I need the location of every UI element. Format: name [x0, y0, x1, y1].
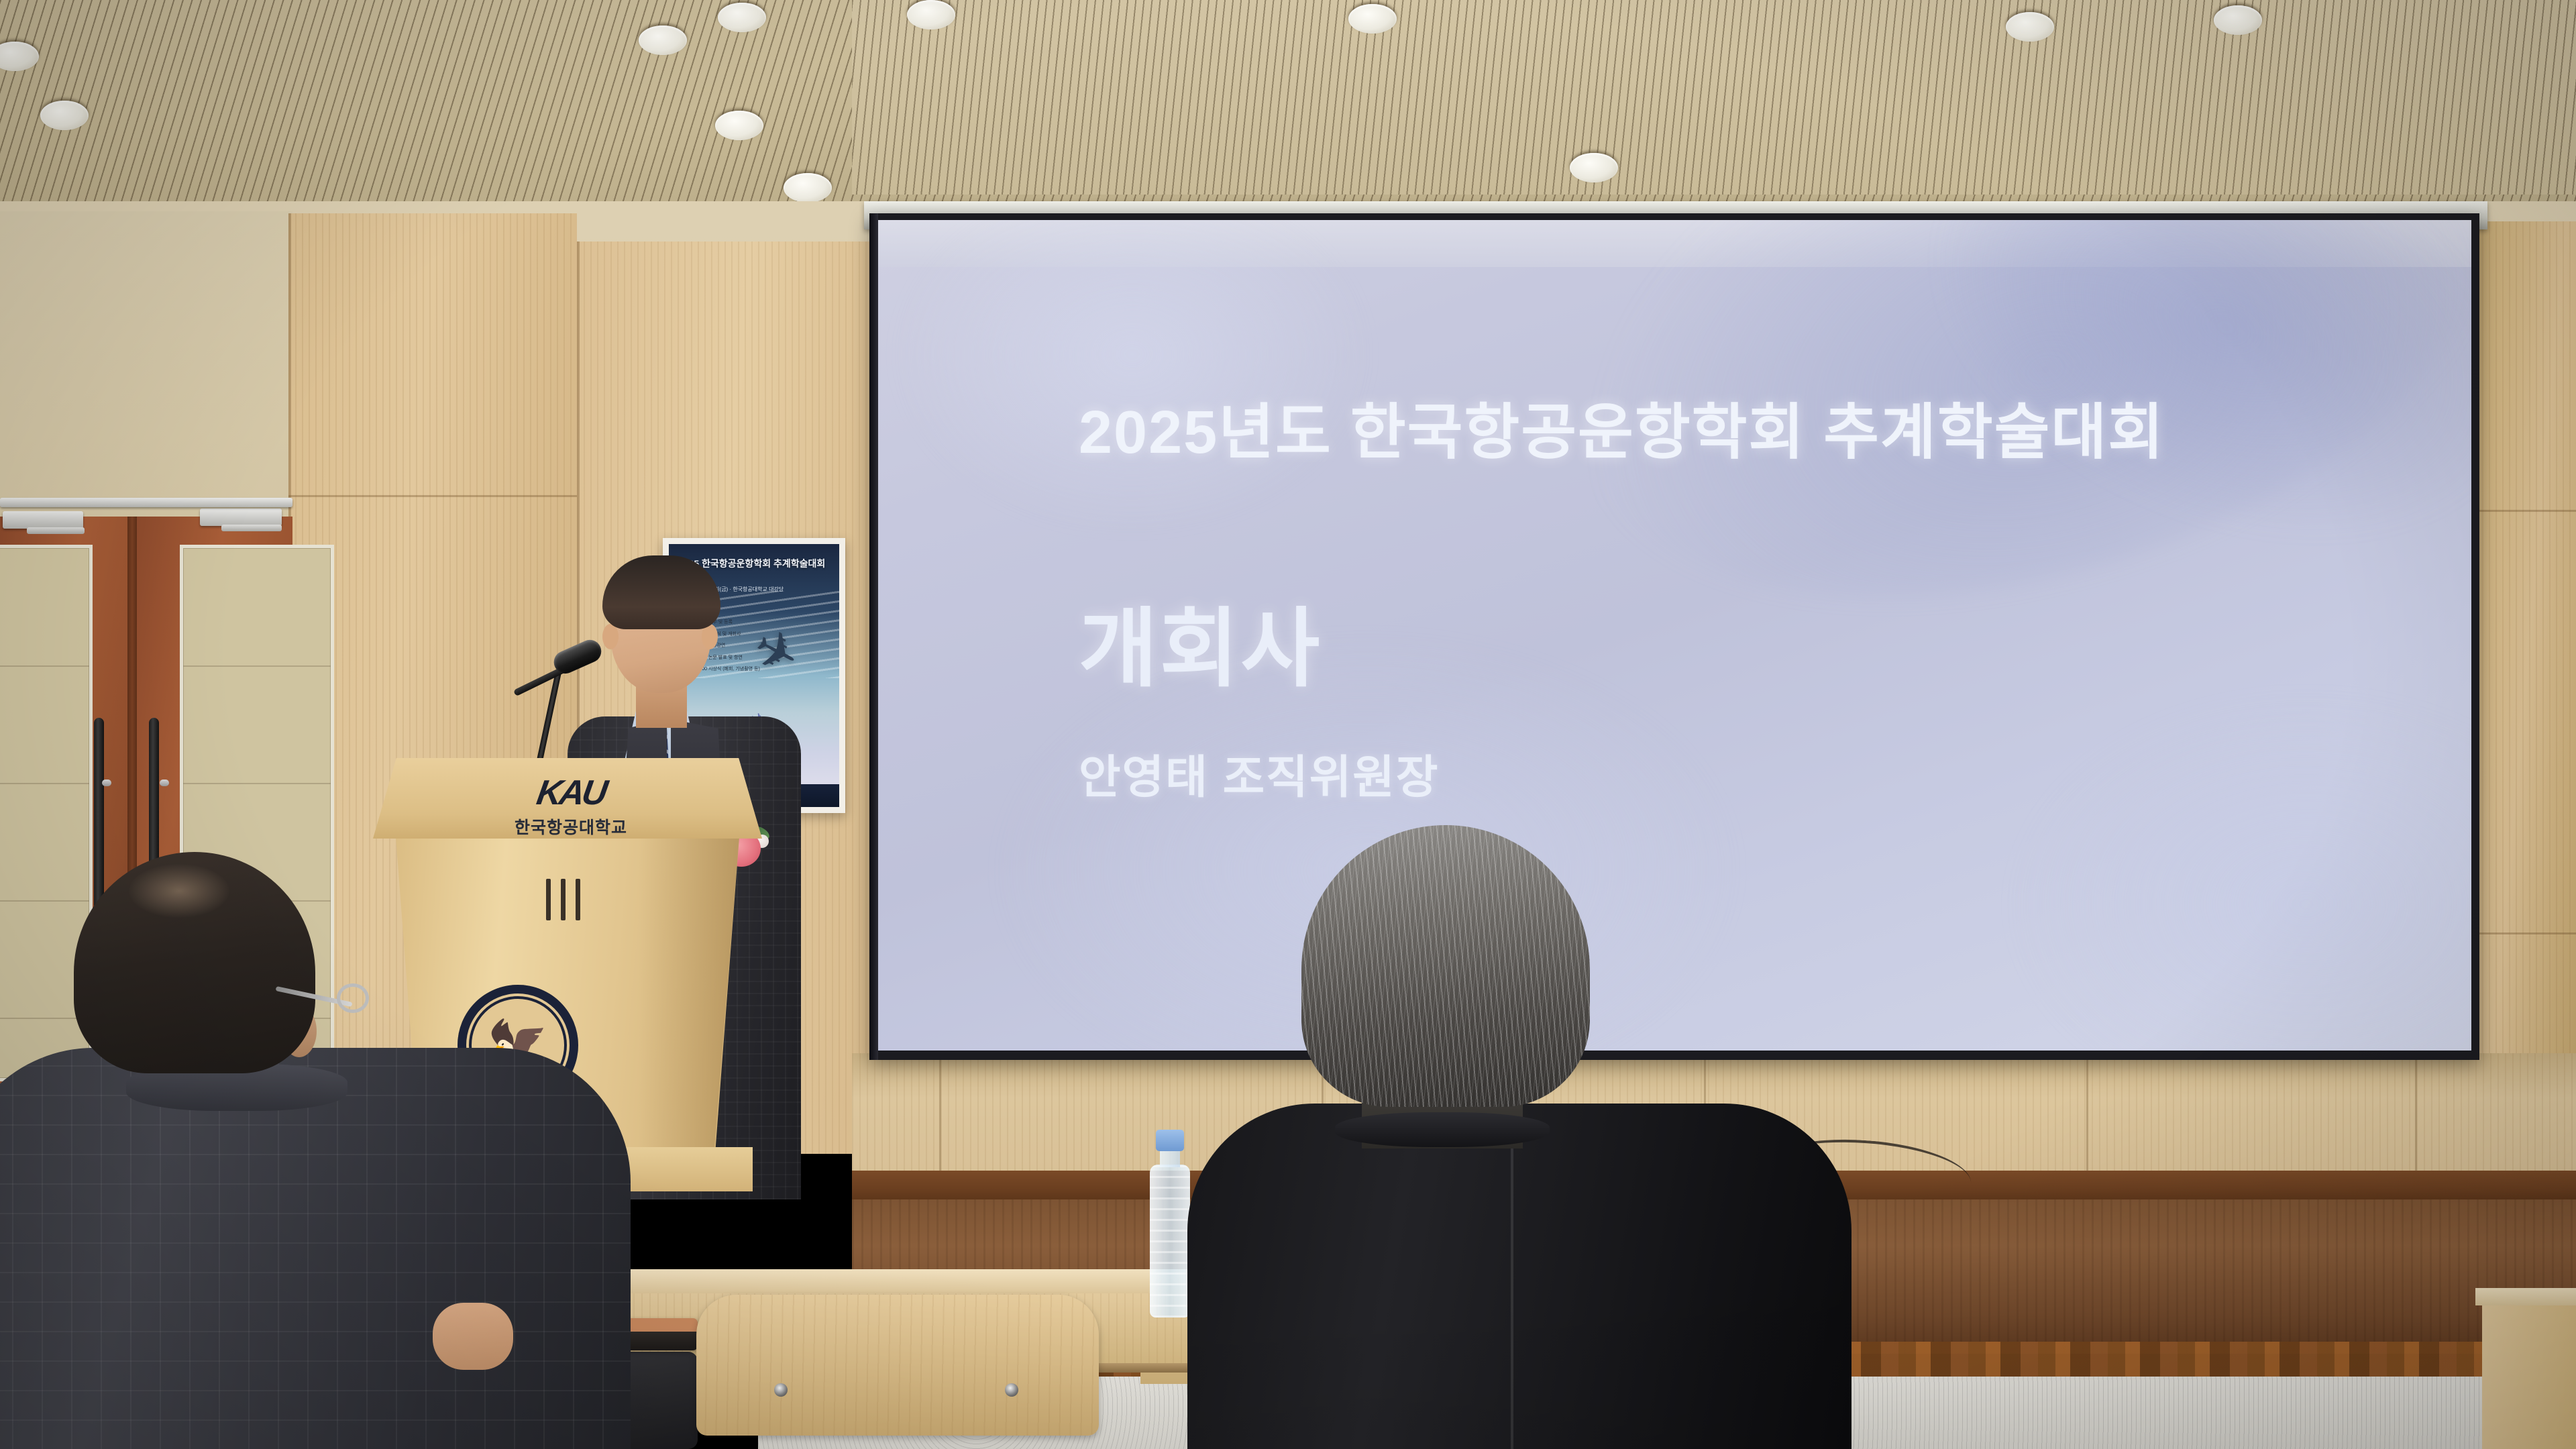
downlight-icon: [907, 0, 955, 30]
downlight-icon: [639, 25, 687, 55]
eyeglasses-lens-icon: [337, 983, 369, 1013]
downlight-icon: [1570, 153, 1618, 182]
door-closer-arm-left: [27, 527, 85, 534]
attendee-right-collar: [1335, 1112, 1550, 1147]
right-side-desk-top: [2475, 1288, 2576, 1305]
downlight-icon: [2214, 5, 2262, 35]
podium-shadow: [639, 837, 739, 1152]
screen-left-edge: [869, 213, 878, 1060]
chair-screw: [1005, 1383, 1018, 1397]
kau-logo-subtext: 한국항공대학교: [487, 814, 655, 839]
downlight-icon: [2006, 12, 2054, 42]
attendee-left-torso: [0, 1048, 631, 1449]
wood-wall-panel-right: [2475, 221, 2576, 1147]
kau-logo: KAU: [484, 773, 658, 813]
chair-screw: [774, 1383, 788, 1397]
door-closer-right: [200, 508, 282, 526]
slide-title: 2025년도 한국항공운항학회 추계학술대회: [1079, 383, 2420, 470]
downlight-icon: [715, 111, 763, 140]
slide-decor-shape: [898, 220, 1367, 529]
door-closer-arm-right: [221, 525, 282, 531]
conference-room-photo: 2025년도 한국항공운항학회 추계학술대회 개회사 안영태 조직위원장 202…: [0, 0, 2576, 1449]
attendee-left-scalp: [129, 864, 229, 918]
speaker-ear-left: [602, 624, 619, 649]
attendee-right-jacket-seam: [1511, 1114, 1513, 1449]
slide-heading: 개회사: [1079, 579, 1322, 703]
door-latch-icon: [102, 780, 111, 786]
door-closer-left: [3, 511, 83, 529]
downlight-icon: [718, 3, 766, 32]
slide-decor-shape: [2004, 690, 2471, 1051]
slide-subtitle: 안영태 조직위원장: [1079, 740, 1439, 806]
bottle-neck: [1160, 1150, 1180, 1167]
downlight-icon: [1348, 4, 1397, 34]
chair-backrest: [696, 1295, 1099, 1436]
door-header-rail: [0, 498, 292, 507]
attendee-front-right: [1181, 825, 1851, 1449]
attendee-left-hand: [433, 1303, 513, 1370]
downlight-icon: [784, 173, 832, 203]
wooden-chair[interactable]: [696, 1295, 1099, 1449]
attendee-right-torso: [1187, 1104, 1851, 1449]
attendee-right-hair: [1301, 825, 1590, 1107]
downlight-icon: [40, 101, 89, 130]
door-latch-icon: [160, 780, 169, 786]
bottle-cap[interactable]: [1156, 1130, 1184, 1151]
speaker-hair: [602, 555, 720, 629]
right-side-desk: [2482, 1296, 2576, 1449]
ceiling-slats-right: [852, 0, 2576, 195]
attendee-front-left: [0, 852, 631, 1449]
